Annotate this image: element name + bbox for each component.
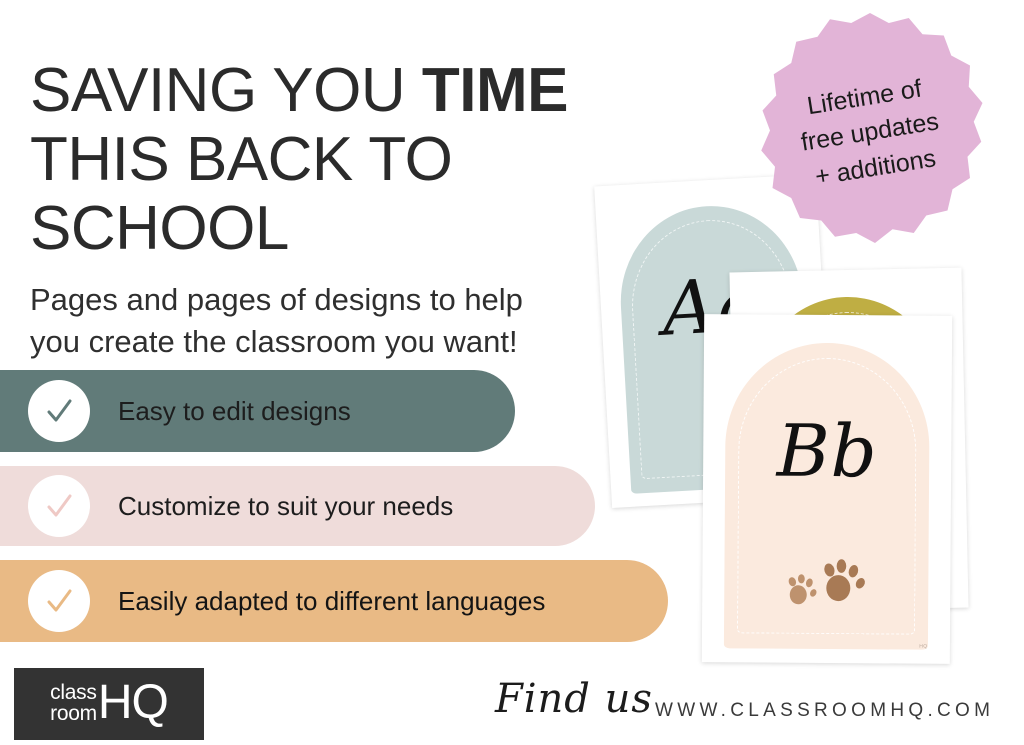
- poster-watermark: HQ: [919, 644, 927, 650]
- check-icon: [28, 570, 90, 632]
- check-icon: [28, 380, 90, 442]
- feature-item-label: Customize to suit your needs: [118, 493, 453, 519]
- logo-line-room: room: [50, 703, 97, 724]
- paw-print-icon: [780, 554, 872, 611]
- logo-line-class: class: [50, 682, 96, 703]
- headline-line-1: SAVING YOU TIME: [30, 56, 568, 125]
- feature-item-easy-to-edit: Easy to edit designs: [0, 370, 515, 452]
- feature-item-customize: Customize to suit your needs: [0, 466, 595, 546]
- feature-item-languages: Easily adapted to different languages: [0, 560, 668, 642]
- lifetime-updates-badge: Lifetime of free updates + additions: [742, 8, 998, 258]
- check-icon: [28, 475, 90, 537]
- find-us-script: Find us: [495, 676, 653, 722]
- feature-item-label: Easily adapted to different languages: [118, 588, 545, 614]
- starburst-shape: [742, 8, 998, 258]
- logo-inner: class room HQ: [50, 681, 168, 725]
- subheading-line-1: Pages and pages of designs to help: [30, 282, 523, 317]
- classroomhq-logo: class room HQ: [14, 668, 204, 740]
- logo-hq-mark: HQ: [98, 681, 168, 725]
- headline-line-3: SCHOOL: [30, 194, 289, 263]
- website-url[interactable]: WWW.CLASSROOMHQ.COM: [655, 700, 994, 722]
- headline-line-1-plain: SAVING YOU: [30, 56, 422, 125]
- poster-canvas: SAVING YOU TIME THIS BACK TO SCHOOL Page…: [0, 0, 1024, 745]
- subheading-line-2: you create the classroom you want!: [30, 324, 518, 359]
- headline-line-1-emphasis: TIME: [422, 56, 568, 125]
- logo-wordmark: class room: [50, 682, 97, 725]
- poster-letter: Bb: [703, 408, 952, 494]
- page-title: SAVING YOU TIME THIS BACK TO SCHOOL: [30, 56, 630, 264]
- subheading: Pages and pages of designs to help you c…: [30, 279, 610, 362]
- headline-line-2: THIS BACK TO: [30, 125, 452, 194]
- feature-item-label: Easy to edit designs: [118, 398, 351, 424]
- poster-card-peach: Bb: [702, 314, 952, 664]
